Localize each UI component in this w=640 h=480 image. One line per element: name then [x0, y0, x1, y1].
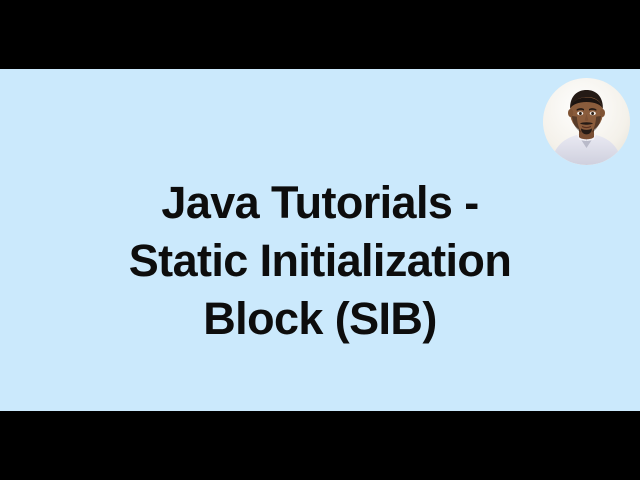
slide-title-line-1: Java Tutorials - — [0, 174, 640, 232]
video-frame: Java Tutorials - Static Initialization B… — [0, 0, 640, 480]
slide-title-line-2: Static Initialization — [0, 232, 640, 290]
presenter-avatar-image — [543, 78, 630, 165]
slide-canvas: Java Tutorials - Static Initialization B… — [0, 69, 640, 411]
letterbox-bottom-bar — [0, 411, 640, 480]
slide-title-line-3: Block (SIB) — [0, 290, 640, 348]
letterbox-top-bar — [0, 0, 640, 69]
presenter-avatar — [543, 78, 630, 165]
slide-title: Java Tutorials - Static Initialization B… — [0, 174, 640, 348]
